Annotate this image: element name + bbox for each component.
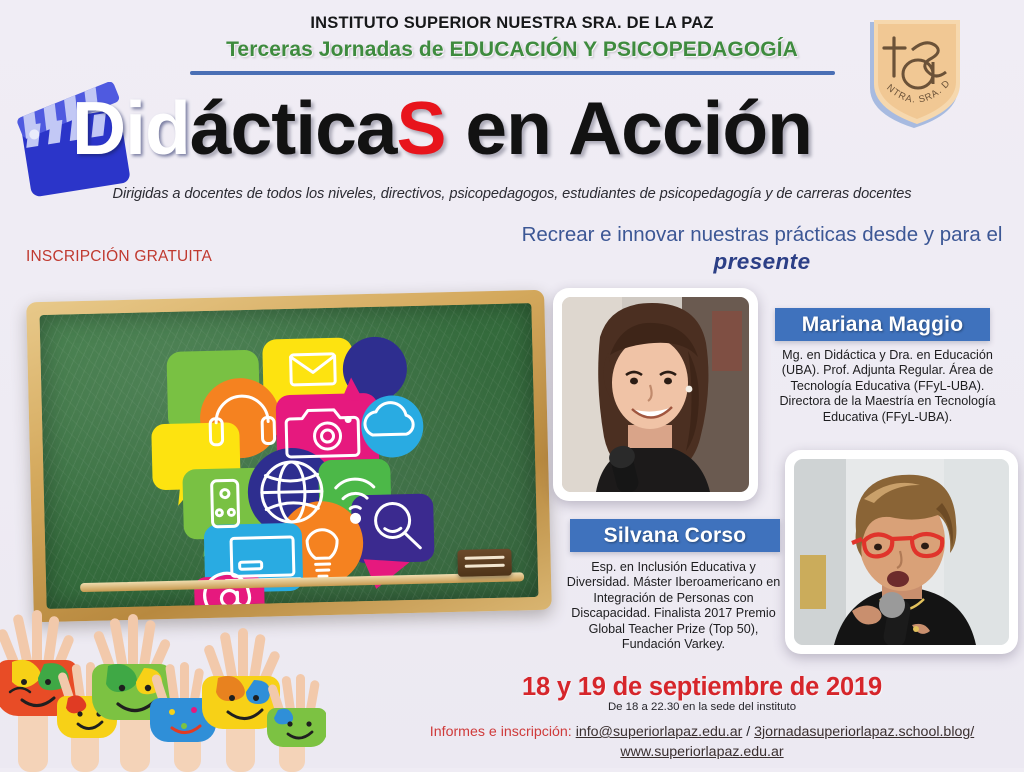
title-part-white: Did	[72, 86, 190, 170]
green-chalkboard	[26, 290, 552, 623]
poster-root: INSTITUTO SUPERIOR NUESTRA SRA. DE LA PA…	[0, 0, 1024, 768]
contact-line: Informes e inscripción: info@superiorlap…	[380, 724, 1024, 740]
painted-children-hands	[0, 600, 326, 772]
event-time: De 18 a 22.30 en la sede del instituto	[380, 701, 1024, 713]
title-part-black-1: áctica	[190, 86, 397, 170]
contact-label: Informes e inscripción:	[430, 724, 572, 740]
speaker-photo-maggio	[553, 288, 758, 501]
chalkboard-surface	[39, 303, 538, 609]
speaker-photo-corso	[785, 450, 1018, 654]
page-title: DidácticaS en Acción	[0, 82, 1024, 174]
header-divider	[190, 71, 835, 75]
audience-tagline: Dirigidas a docentes de todos los nivele…	[0, 186, 1024, 202]
contact-blog-link[interactable]: 3jornadasuperiorlapaz.school.blog/	[754, 724, 974, 740]
title-part-red-s: S	[397, 86, 446, 170]
title-block: DidácticaS en Acción	[0, 80, 1024, 170]
contact-email-link[interactable]: info@superiorlapaz.edu.ar	[576, 724, 743, 740]
motto-line-1: Recrear e innovar nuestras prácticas des…	[500, 220, 1024, 250]
website-line: www.superiorlapaz.edu.ar	[380, 744, 1024, 760]
event-date: 18 y 19 de septiembre de 2019	[380, 673, 1024, 702]
chalkboard-eraser	[457, 549, 512, 577]
contact-separator: /	[742, 724, 754, 740]
free-registration-badge: INSCRIPCIÓN GRATUITA	[26, 248, 212, 266]
title-part-black-2: en Acción	[446, 86, 812, 170]
motto-line-2: presente	[500, 249, 1024, 275]
speaker-bio-maggio: Mg. en Didáctica y Dra. en Educación (UB…	[775, 348, 1000, 425]
avatar	[562, 297, 749, 492]
speaker-name-maggio: Mariana Maggio	[775, 308, 990, 341]
website-link[interactable]: www.superiorlapaz.edu.ar	[620, 744, 783, 760]
avatar	[794, 459, 1009, 645]
speaker-bio-corso: Esp. en Inclusión Educativa y Diversidad…	[566, 560, 781, 652]
chalkboard-frame	[26, 290, 552, 623]
speaker-name-corso: Silvana Corso	[570, 519, 780, 552]
